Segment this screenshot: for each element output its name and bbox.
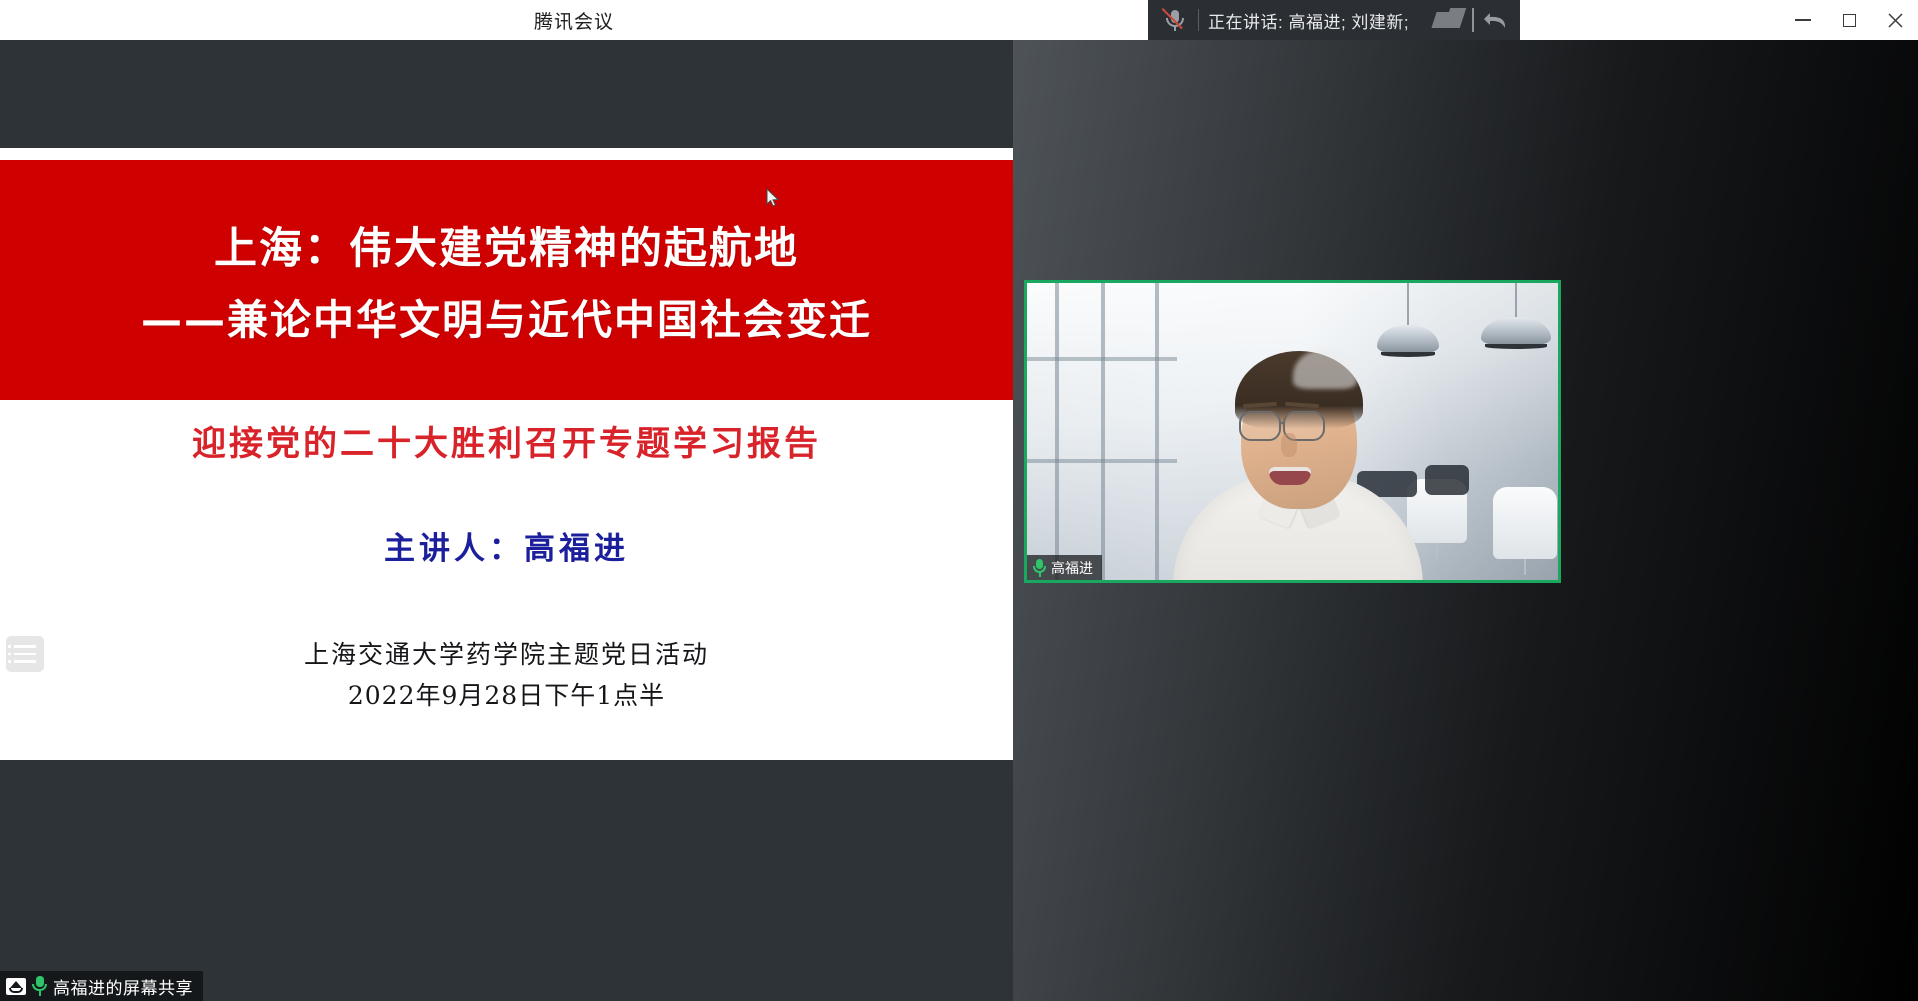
- speaking-status-pill[interactable]: 正在讲话: 高福进; 刘建新;: [1148, 0, 1520, 40]
- pendant-lamp-icon: [1481, 280, 1551, 355]
- minimize-button[interactable]: [1780, 0, 1826, 40]
- close-button[interactable]: [1872, 0, 1918, 40]
- screen-share-status-bar[interactable]: 高福进的屏幕共享: [0, 971, 203, 1001]
- presentation-slide: 上海：伟大建党精神的起航地 ——兼论中华文明与近代中国社会变迁 迎接党的二十大胜…: [0, 148, 1013, 760]
- eyeglasses-icon: [1239, 411, 1281, 441]
- screen-share-icon: [6, 978, 26, 995]
- chair-shape: [1493, 487, 1557, 559]
- slide-subtitle: 迎接党的二十大胜利召开专题学习报告: [0, 416, 1013, 465]
- window-controls: [1748, 0, 1918, 40]
- slide-datetime-line: 2022年9月28日下午1点半: [0, 676, 1013, 712]
- screen-share-label: 高福进的屏幕共享: [53, 974, 193, 999]
- participant-video-panel: 高福进: [1013, 40, 1918, 1001]
- slide-title-banner: 上海：伟大建党精神的起航地 ——兼论中华文明与近代中国社会变迁: [0, 160, 1013, 400]
- icon-divider: [1472, 8, 1474, 32]
- shared-screen-region[interactable]: 上海：伟大建党精神的起航地 ——兼论中华文明与近代中国社会变迁 迎接党的二十大胜…: [0, 40, 1013, 1001]
- participant-name: 高福进: [1051, 558, 1093, 578]
- slide-title-line-2: ——兼论中华文明与近代中国社会变迁: [141, 286, 872, 346]
- slide-organization-line: 上海交通大学药学院主题党日活动: [0, 635, 1013, 671]
- app-title: 腾讯会议: [0, 0, 1148, 40]
- chair-back-shape: [1425, 465, 1469, 495]
- pill-divider: [1198, 9, 1199, 31]
- video-participant-label: 高福进: [1027, 555, 1102, 580]
- titlebar-tab-area[interactable]: 腾讯会议: [0, 0, 1148, 40]
- speaking-status-label: 正在讲话: 高福进; 刘建新;: [1208, 8, 1409, 33]
- video-background: [1027, 283, 1558, 580]
- microphone-active-icon: [32, 976, 47, 996]
- mouse-pointer-icon: [766, 188, 780, 208]
- presentation-letterbox-bottom: [0, 760, 1013, 1001]
- slide-menu-icon[interactable]: [6, 636, 44, 672]
- slide-speaker-line: 主讲人：高福进: [0, 523, 1013, 568]
- presentation-letterbox-top: [0, 40, 1013, 148]
- participant-figure: [1173, 327, 1423, 583]
- maximize-button[interactable]: [1826, 0, 1872, 40]
- slide-title-line-1: 上海：伟大建党精神的起航地: [214, 214, 799, 276]
- microphone-muted-icon[interactable]: [1160, 5, 1190, 35]
- screen-share-icon[interactable]: [1432, 6, 1466, 34]
- participant-video-tile[interactable]: 高福进: [1024, 280, 1561, 583]
- microphone-active-icon: [1033, 559, 1046, 577]
- window-titlebar: 腾讯会议 正在讲话: 高福进; 刘建新;: [0, 0, 1918, 40]
- undo-arrow-icon[interactable]: [1480, 6, 1512, 34]
- pill-icon-group: [1432, 6, 1512, 34]
